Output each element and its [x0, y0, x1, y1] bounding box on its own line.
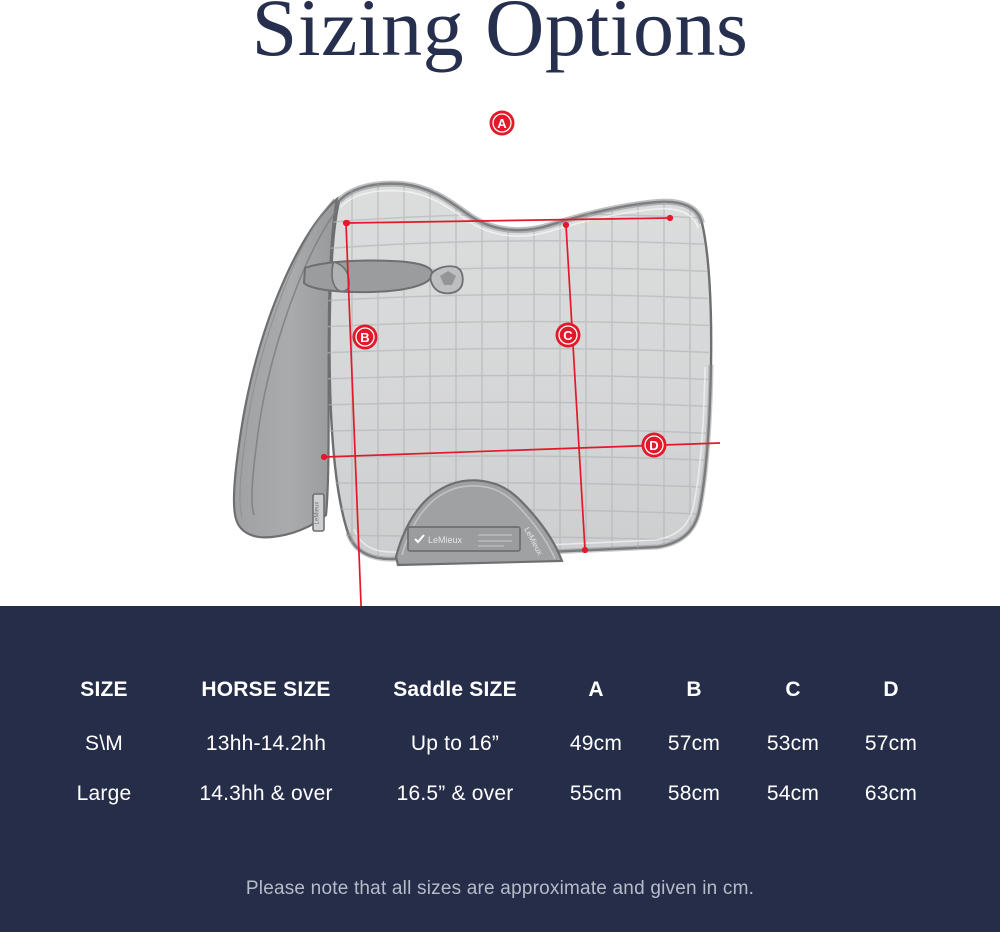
side-brand-tag: LeMieux — [313, 494, 324, 531]
svg-text:D: D — [649, 438, 658, 453]
cell-d: 63cm — [865, 782, 917, 806]
cell-b: 58cm — [668, 782, 720, 806]
measure-badge-b: B — [353, 325, 378, 350]
measure-badge-d: D — [642, 433, 667, 458]
sizing-options-page: Sizing Options — [0, 0, 1000, 932]
sizing-table-panel: SIZE HORSE SIZE Saddle SIZE A B C D S\M … — [0, 606, 1000, 932]
measure-badge-c: C — [556, 323, 581, 348]
measure-badge-a: A — [490, 111, 515, 136]
svg-text:LeMieux: LeMieux — [315, 502, 321, 525]
cell-a: 55cm — [570, 782, 622, 806]
page-title: Sizing Options — [252, 0, 749, 70]
column-header-horse-size: HORSE SIZE — [201, 678, 330, 702]
cell-saddle-size: Up to 16” — [411, 732, 499, 756]
table-row: Large 14.3hh & over 16.5” & over 55cm 58… — [0, 782, 1000, 822]
billet-strap-detail — [304, 260, 432, 292]
cell-horse-size: 14.3hh & over — [199, 782, 332, 806]
table-footnote: Please note that all sizes are approxima… — [0, 878, 1000, 900]
svg-text:C: C — [563, 328, 573, 343]
column-header-a: A — [588, 678, 603, 702]
cell-size: S\M — [85, 732, 123, 756]
svg-text:B: B — [360, 330, 369, 345]
column-header-size: SIZE — [80, 678, 127, 702]
withers-logo-patch — [431, 266, 463, 293]
cell-d: 57cm — [865, 732, 917, 756]
cell-b: 57cm — [668, 732, 720, 756]
saddle-pad-illustration: LeMieux LeMieux LeMieux — [0, 95, 1000, 606]
cell-saddle-size: 16.5” & over — [397, 782, 514, 806]
table-row: S\M 13hh-14.2hh Up to 16” 49cm 57cm 53cm… — [0, 732, 1000, 772]
svg-text:A: A — [497, 116, 507, 131]
column-header-c: C — [785, 678, 800, 702]
column-header-saddle-size: Saddle SIZE — [393, 678, 517, 702]
cell-a: 49cm — [570, 732, 622, 756]
saddle-pad-diagram: LeMieux LeMieux LeMieux — [0, 95, 1000, 606]
column-header-b: B — [686, 678, 701, 702]
table-header-row: SIZE HORSE SIZE Saddle SIZE A B C D — [0, 678, 1000, 718]
cell-c: 53cm — [767, 732, 819, 756]
cell-c: 54cm — [767, 782, 819, 806]
care-label: LeMieux — [408, 527, 520, 551]
page-title-area: Sizing Options — [0, 0, 1000, 95]
cell-size: Large — [77, 782, 132, 806]
pad-far-flap — [234, 199, 345, 537]
svg-text:LeMieux: LeMieux — [428, 535, 463, 545]
cell-horse-size: 13hh-14.2hh — [206, 732, 326, 756]
column-header-d: D — [883, 678, 898, 702]
